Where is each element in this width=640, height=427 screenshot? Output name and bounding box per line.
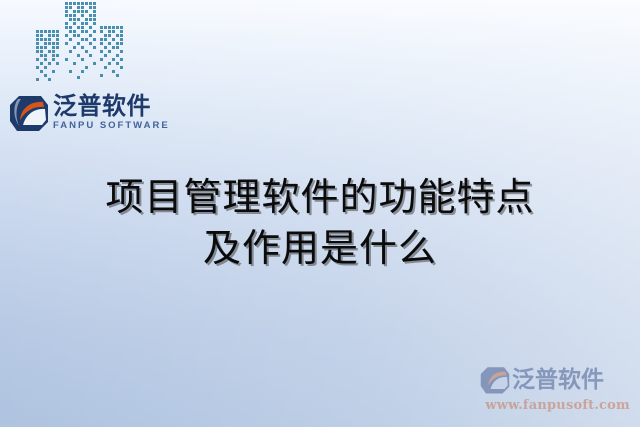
brand-name-cn: 泛普软件 <box>53 94 170 119</box>
brand-name-en: FANPU SOFTWARE <box>53 120 170 131</box>
page-title-line-1: 项目管理软件的功能特点 <box>0 172 640 223</box>
page-title-line-2: 及作用是什么 <box>0 223 640 274</box>
page-title: 项目管理软件的功能特点 及作用是什么 <box>0 172 640 274</box>
skyline-icon <box>34 0 130 86</box>
brand-wordmark: 泛普软件 FANPU SOFTWARE <box>53 94 170 132</box>
pixel-skyline-graphic <box>34 0 130 86</box>
watermark-url: www.fanpusoft.com <box>480 398 630 413</box>
watermark-logo-row: 泛普软件 <box>480 363 630 397</box>
brand-logo: 泛普软件 FANPU SOFTWARE <box>9 90 169 136</box>
watermark-brand-name: 泛普软件 <box>512 369 604 392</box>
watermark: 泛普软件 www.fanpusoft.com <box>480 363 630 419</box>
fanpu-logo-icon <box>9 93 49 133</box>
watermark-fanpu-logo-icon <box>480 365 510 395</box>
slide-canvas: 泛普软件 FANPU SOFTWARE 项目管理软件的功能特点 及作用是什么 泛… <box>0 0 640 427</box>
